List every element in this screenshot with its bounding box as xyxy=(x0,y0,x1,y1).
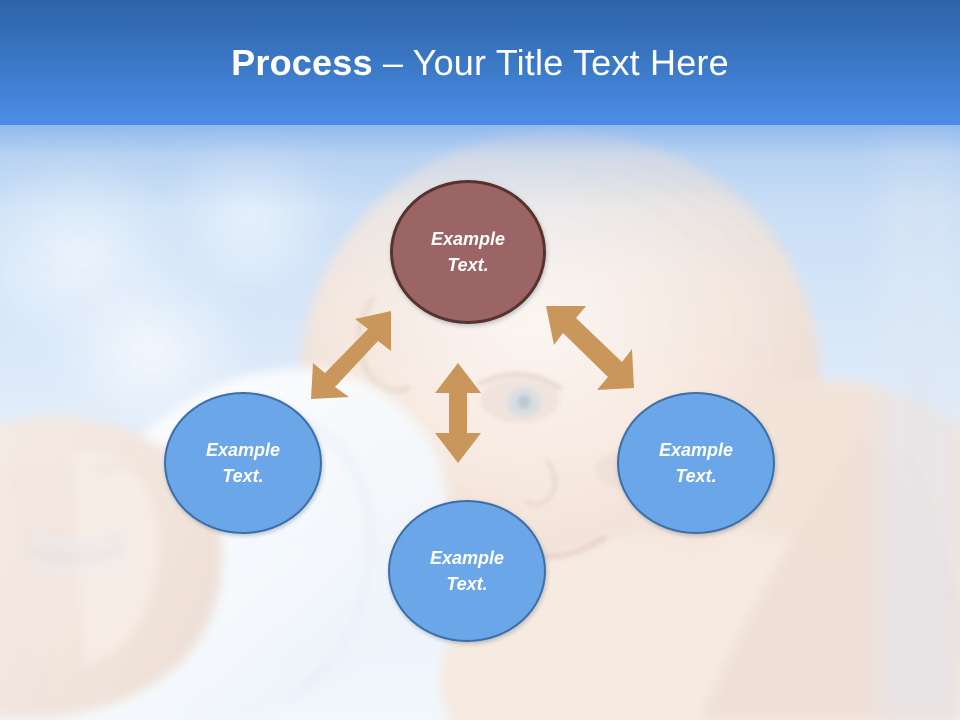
process-node-bottom-line2: Text. xyxy=(446,571,487,597)
connector-right-diagonal-arrow[interactable] xyxy=(540,300,640,400)
slide: Process – Your Title Text Here Example T… xyxy=(0,0,960,720)
process-node-top-line1: Example xyxy=(431,226,505,252)
process-node-right[interactable]: Example Text. xyxy=(617,392,775,534)
process-node-left-line1: Example xyxy=(206,437,280,463)
connector-center-vertical-arrow[interactable] xyxy=(435,363,481,463)
process-node-right-line2: Text. xyxy=(675,463,716,489)
process-node-bottom-line1: Example xyxy=(430,545,504,571)
connector-left-diagonal-arrow[interactable] xyxy=(305,305,405,405)
page-title: Process – Your Title Text Here xyxy=(0,0,960,125)
page-title-separator: – xyxy=(373,42,413,83)
process-node-left-line2: Text. xyxy=(222,463,263,489)
page-title-light: Your Title Text Here xyxy=(413,42,729,83)
process-node-top-line2: Text. xyxy=(447,252,488,278)
process-node-top[interactable]: Example Text. xyxy=(390,180,546,324)
process-node-right-line1: Example xyxy=(659,437,733,463)
process-node-left[interactable]: Example Text. xyxy=(164,392,322,534)
page-title-bold: Process xyxy=(231,42,373,83)
title-banner: Process – Your Title Text Here xyxy=(0,0,960,125)
process-node-bottom[interactable]: Example Text. xyxy=(388,500,546,642)
